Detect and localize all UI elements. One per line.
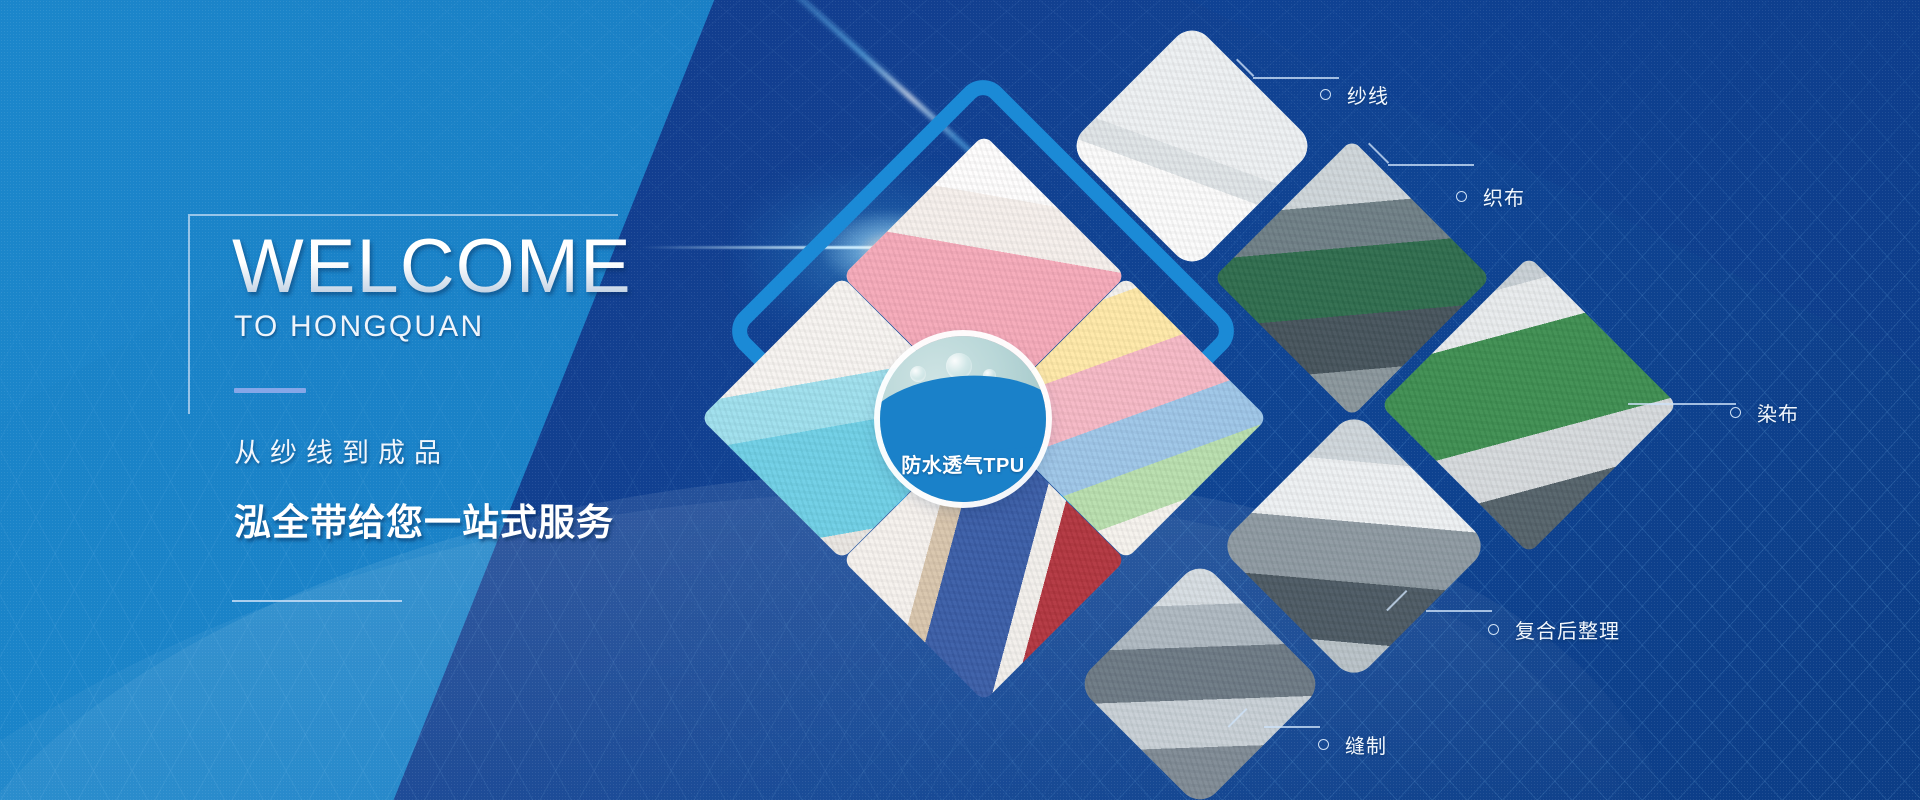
tpu-badge-label: 防水透气TPU — [880, 449, 1046, 478]
page-title: WELCOME — [228, 230, 788, 304]
tagline: 从纱线到成品 — [234, 431, 788, 470]
tpu-badge[interactable]: 防水透气TPU — [880, 336, 1046, 502]
tagline-bold: 泓全带给您一站式服务 — [234, 492, 788, 546]
hero-banner: WELCOME TO HONGQUAN 从纱线到成品 泓全带给您一站式服务 防水… — [0, 0, 1920, 800]
bottom-divider-rule — [232, 600, 402, 602]
hero-copy: WELCOME TO HONGQUAN 从纱线到成品 泓全带给您一站式服务 — [228, 200, 788, 546]
page-subtitle: TO HONGQUAN — [228, 310, 788, 344]
